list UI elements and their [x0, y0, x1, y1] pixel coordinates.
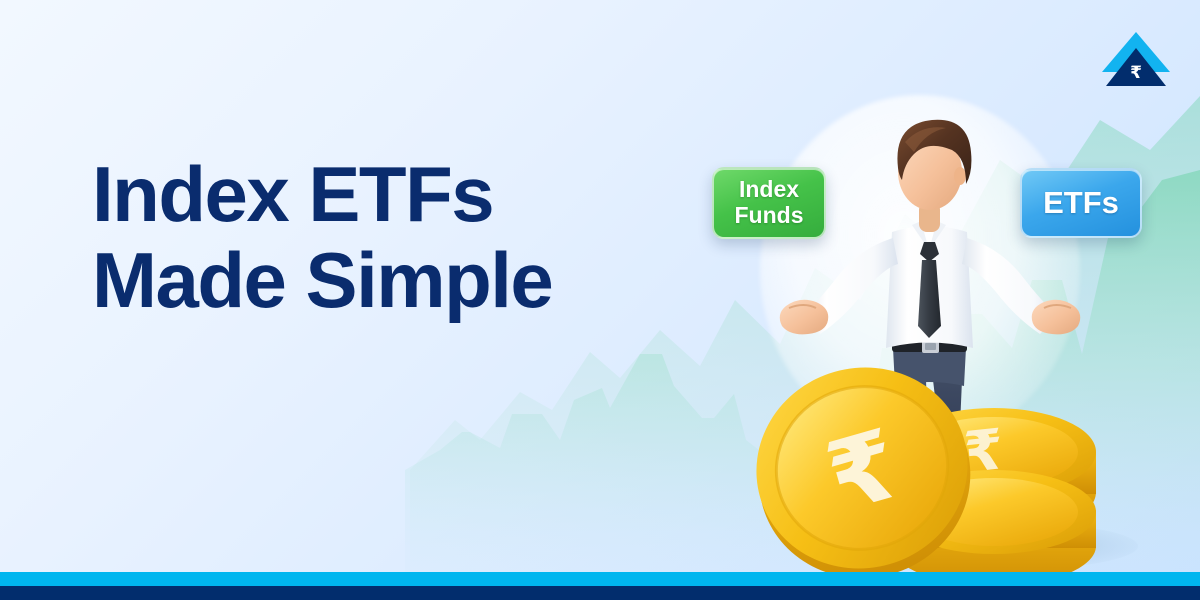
- page-title: Index ETFs Made Simple: [92, 152, 712, 324]
- headline-line-2: Made Simple: [92, 238, 712, 324]
- footer-cyan-bar: [0, 572, 1200, 586]
- illustration-group: Index Funds ETFs: [690, 80, 1190, 600]
- footer-navy-bar: [0, 586, 1200, 600]
- banner-root: Index ETFs Made Simple ₹: [0, 0, 1200, 600]
- rupee-coins: ₹ ₹: [690, 80, 1190, 600]
- headline-line-1: Index ETFs: [92, 152, 712, 238]
